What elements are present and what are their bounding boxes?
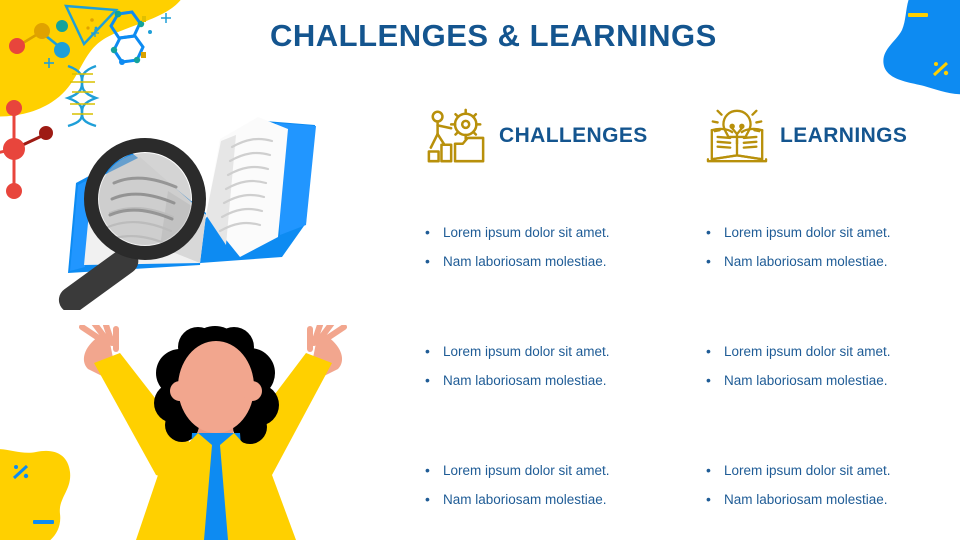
bullet-group: • Lorem ipsum dolor sit amet. • Nam labo… bbox=[425, 337, 695, 394]
sparkle-mark-top-left bbox=[90, 28, 100, 38]
hexagon-molecule-doodle bbox=[98, 8, 156, 70]
bullet-dot-icon: • bbox=[425, 373, 443, 387]
challenges-label: CHALLENGES bbox=[499, 124, 648, 148]
bullet-group: • Lorem ipsum dolor sit amet. • Nam labo… bbox=[425, 456, 695, 513]
dash-mark-bottom-left bbox=[33, 518, 57, 526]
bullet-dot-icon: • bbox=[425, 463, 443, 477]
bullet-dot-icon: • bbox=[706, 463, 724, 477]
molecule-doodle bbox=[4, 18, 74, 78]
list-item: • Nam laboriosam molestiae. bbox=[706, 247, 960, 276]
learnings-label: LEARNINGS bbox=[780, 124, 907, 148]
sparkle-mark-bottom-left bbox=[10, 461, 32, 483]
column-learnings: LEARNINGS • Lorem ipsum dolor sit amet. … bbox=[706, 100, 960, 172]
list-item: • Lorem ipsum dolor sit amet. bbox=[706, 456, 960, 485]
learnings-icon bbox=[706, 105, 768, 167]
bullet-group: • Lorem ipsum dolor sit amet. • Nam labo… bbox=[706, 456, 960, 513]
dash-mark-top-right bbox=[908, 11, 930, 19]
list-item: • Lorem ipsum dolor sit amet. bbox=[706, 218, 960, 247]
sparkle-mark-top-right bbox=[930, 58, 952, 80]
learnings-bullet-groups: • Lorem ipsum dolor sit amet. • Nam labo… bbox=[706, 218, 960, 513]
bullet-group: • Lorem ipsum dolor sit amet. • Nam labo… bbox=[706, 337, 960, 394]
sparkle-mark-top-left bbox=[42, 56, 56, 70]
challenges-bullet-groups: • Lorem ipsum dolor sit amet. • Nam labo… bbox=[425, 218, 695, 513]
page-title: CHALLENGES & LEARNINGS bbox=[270, 18, 717, 54]
list-item: • Nam laboriosam molestiae. bbox=[706, 485, 960, 514]
bullet-dot-icon: • bbox=[425, 254, 443, 268]
bullet-dot-icon: • bbox=[706, 225, 724, 239]
bullet-dot-icon: • bbox=[425, 225, 443, 239]
blue-blob-top-right bbox=[880, 0, 960, 96]
bullet-dot-icon: • bbox=[706, 373, 724, 387]
list-item: • Lorem ipsum dolor sit amet. bbox=[425, 218, 695, 247]
bullet-group: • Lorem ipsum dolor sit amet. • Nam labo… bbox=[425, 218, 695, 275]
slide-canvas: CHALLENGES & LEARNINGS bbox=[0, 0, 960, 540]
column-challenges: CHALLENGES • Lorem ipsum dolor sit amet.… bbox=[425, 100, 695, 172]
challenges-icon bbox=[425, 105, 487, 167]
list-item: • Nam laboriosam molestiae. bbox=[706, 366, 960, 395]
bullet-group: • Lorem ipsum dolor sit amet. • Nam labo… bbox=[706, 218, 960, 275]
bullet-dot-icon: • bbox=[706, 492, 724, 506]
open-book-with-magnifier-illustration bbox=[40, 95, 350, 310]
list-item: • Lorem ipsum dolor sit amet. bbox=[425, 337, 695, 366]
list-item: • Nam laboriosam molestiae. bbox=[425, 366, 695, 395]
flask-triangle-doodle bbox=[62, 2, 122, 50]
challenges-header: CHALLENGES bbox=[425, 100, 695, 172]
list-item: • Lorem ipsum dolor sit amet. bbox=[425, 456, 695, 485]
list-item: • Nam laboriosam molestiae. bbox=[425, 247, 695, 276]
bullet-dot-icon: • bbox=[706, 344, 724, 358]
bullet-dot-icon: • bbox=[706, 254, 724, 268]
list-item: • Nam laboriosam molestiae. bbox=[425, 485, 695, 514]
sparkle-mark-top-left bbox=[160, 12, 172, 24]
celebrating-person-illustration bbox=[70, 325, 360, 540]
bullet-dot-icon: • bbox=[425, 492, 443, 506]
learnings-header: LEARNINGS bbox=[706, 100, 960, 172]
list-item: • Lorem ipsum dolor sit amet. bbox=[706, 337, 960, 366]
bullet-dot-icon: • bbox=[425, 344, 443, 358]
